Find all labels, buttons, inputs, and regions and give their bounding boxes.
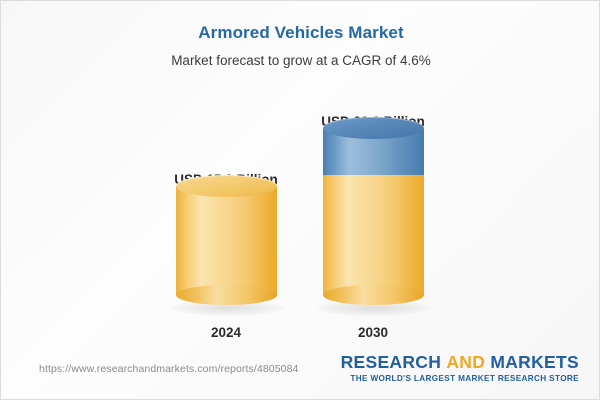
brand-logo[interactable]: RESEARCH AND MARKETS THE WORLD'S LARGEST… (341, 352, 579, 385)
cylinder-top-cap (323, 117, 424, 139)
brand-tagline: THE WORLD'S LARGEST MARKET RESEARCH STOR… (341, 373, 579, 385)
cylinder-bar-2024[interactable] (176, 175, 277, 306)
source-url-link[interactable]: https://www.researchandmarkets.com/repor… (39, 363, 298, 375)
cylinder-top-cap (176, 175, 277, 197)
cylinder-bottom (323, 285, 424, 305)
infographic-card: Armored Vehicles Market Market forecast … (0, 0, 600, 400)
axis-label-2024: 2024 (146, 325, 306, 340)
brand-word-markets: MARKETS (490, 352, 579, 372)
axis-label-2030: 2030 (293, 325, 453, 340)
brand-word-and: AND (446, 352, 485, 372)
footer: https://www.researchandmarkets.com/repor… (1, 347, 599, 399)
bar-segment-base (323, 175, 424, 295)
bar-segment-base (176, 186, 277, 295)
cylinder-bar-2030[interactable] (323, 117, 424, 306)
cylinder-bottom (176, 285, 277, 305)
brand-wordmark: RESEARCH AND MARKETS (341, 352, 579, 372)
chart-plot-area: USD 15.3 Billion 2024 USD 20.1 Billion (1, 1, 600, 346)
brand-word-research: RESEARCH (341, 352, 442, 372)
